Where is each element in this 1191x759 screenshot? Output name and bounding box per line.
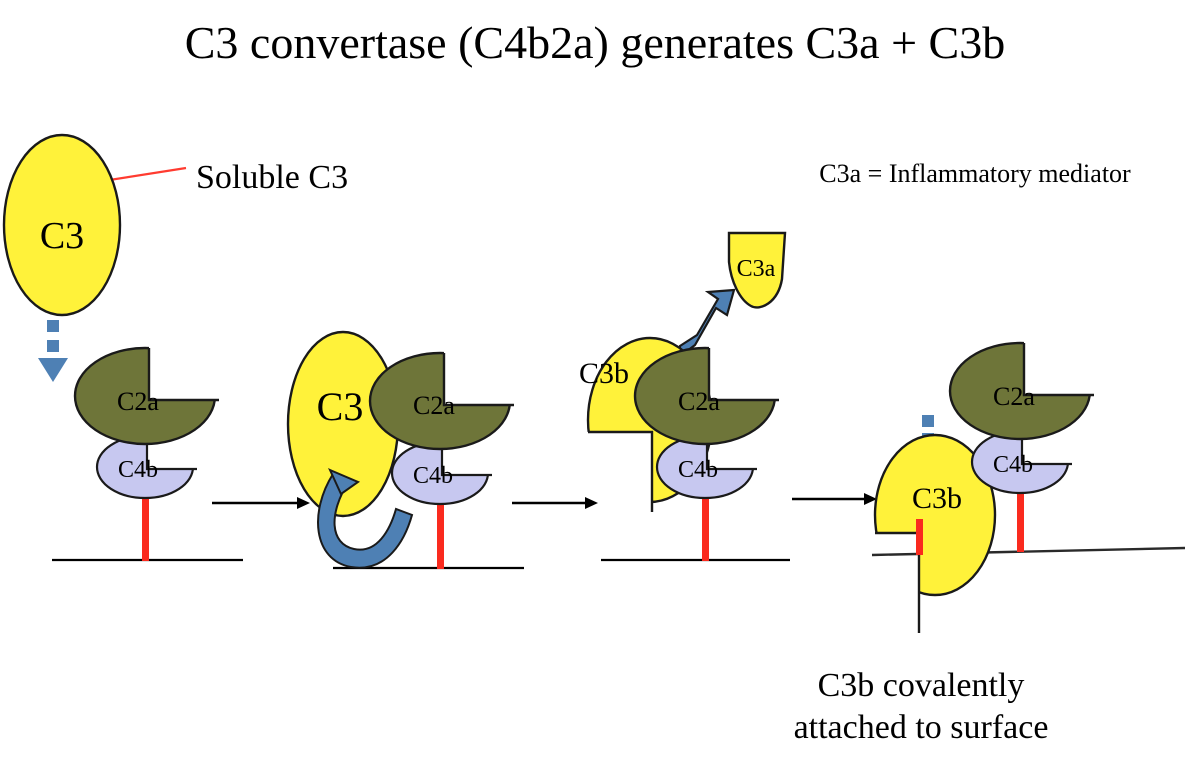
c3b-label: C3b: [912, 482, 962, 515]
covalent-anchor-icon: [1017, 486, 1024, 552]
c4b-label: C4b: [678, 457, 718, 483]
c4b-molecule: C4b: [657, 436, 757, 498]
soluble-c3-molecule: C3: [4, 135, 120, 315]
c2a-notch-outline: [149, 348, 219, 400]
covalent-anchor-icon: [437, 497, 444, 569]
c2a-label: C2a: [413, 391, 455, 420]
caption-line-1: C3b covalently: [818, 667, 1025, 704]
stage-2-group: C3 C4b: [288, 332, 524, 569]
c3b-notch-outline: [588, 432, 652, 512]
covalent-anchor-icon: [916, 519, 923, 555]
c4b-label: C4b: [118, 457, 158, 483]
c4b-label: C4b: [413, 463, 453, 489]
c2a-label: C2a: [678, 387, 720, 416]
c3a-label: C3a: [737, 256, 776, 282]
step-arrow-icon: [212, 497, 310, 509]
step-arrow-icon: [792, 493, 877, 505]
c2a-label: C2a: [117, 387, 159, 416]
stage-1-group: C4b C2a: [52, 348, 243, 561]
c3b-notch-outline: [875, 533, 919, 633]
c3a-legend-label: C3a = Inflammatory mediator: [819, 159, 1131, 188]
c2a-molecule: C2a: [75, 348, 219, 444]
diagram-canvas: C3 convertase (C4b2a) generates C3a + C3…: [0, 0, 1191, 759]
stage-4-group: C3b C4b C2a: [872, 343, 1185, 633]
complement-cascade-diagram: C3 convertase (C4b2a) generates C3a + C3…: [0, 0, 1191, 759]
c4b-molecule: C4b: [392, 442, 492, 504]
dashed-down-arrow-icon: [38, 320, 68, 382]
c3-label: C3: [317, 384, 364, 429]
leader-line-icon: [103, 168, 186, 181]
caption-line-2: attached to surface: [794, 709, 1049, 746]
covalent-anchor-icon: [702, 491, 709, 561]
c4b-molecule: C4b: [972, 431, 1072, 493]
covalent-anchor-icon: [142, 491, 149, 561]
c4b-label: C4b: [993, 452, 1033, 478]
c4b-molecule: C4b: [97, 436, 197, 498]
c3-label: C3: [40, 215, 84, 257]
c3a-molecule: C3a: [729, 233, 785, 307]
c2a-molecule: C2a: [370, 353, 514, 449]
step-arrow-icon: [512, 497, 598, 509]
c2a-molecule: C2a: [950, 343, 1094, 439]
c2a-label: C2a: [993, 382, 1035, 411]
soluble-c3-label: Soluble C3: [196, 159, 348, 196]
c3b-label: C3b: [579, 357, 629, 390]
c2a-molecule: C2a: [635, 348, 779, 444]
page-title: C3 convertase (C4b2a) generates C3a + C3…: [185, 17, 1005, 68]
stage-3-group: C3a C3b C4b: [579, 233, 790, 561]
